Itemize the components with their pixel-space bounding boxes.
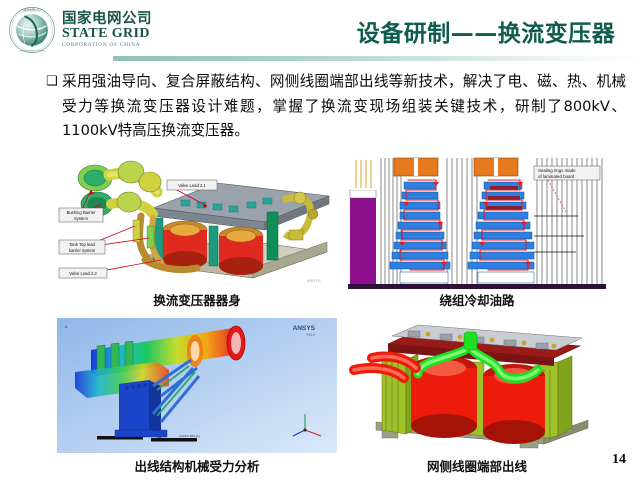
figure-converter-transformer-body: Valve Lead 2.1 Bushing Barrier System Ta… (57, 156, 337, 289)
callout-valve-lead-21: Valve Lead 2.1 (178, 183, 206, 188)
svg-text:R15.0: R15.0 (306, 333, 315, 337)
figure-winding-oil-cooling-path: Sealing rings made of laminated board (348, 156, 606, 289)
callout-valve-lead-22: Valve Lead 2.2 (69, 271, 97, 276)
figure-caption-transformer-body: 换流变压器器身 (57, 290, 337, 309)
ansys-watermark-label: ANSYS (293, 325, 316, 332)
brand-name-cn: 国家电网公司 (62, 12, 152, 27)
state-grid-globe-logo-icon: 国家电网公司 CORPORATION OF CHINA (8, 6, 56, 54)
brand-logo: 国家电网公司 CORPORATION OF CHINA 国家电网公司 STATE… (8, 6, 152, 54)
square-bullet-icon: ❑ (46, 70, 62, 94)
page-title: 设备研制——换流变压器 (340, 14, 632, 48)
body-paragraph: 采用强油导向、复合屏蔽结构、网侧线圈端部出线等新技术，解决了电、磁、热、机械受力… (62, 70, 626, 144)
figure-caption-coil-end-lead: 网侧线圈端部出线 (348, 456, 606, 475)
converter-transformer-body-image: Valve Lead 2.1 Bushing Barrier System Ta… (57, 156, 337, 289)
page-number: 14 (612, 452, 626, 468)
figure-caption-oil-cooling-path: 绕组冷却油路 (348, 290, 606, 309)
callout-tank-top-1: Tank Top lead (69, 242, 95, 247)
svg-text:ANSYS: ANSYS (307, 278, 321, 283)
svg-text:国家电网公司: 国家电网公司 (23, 7, 40, 12)
callout-bushing-barrier-2: System (74, 216, 88, 221)
title-divider (113, 56, 640, 61)
brand-name-en: STATE GRID (62, 27, 152, 41)
figure-lead-structure-stress-analysis: ANSYS R15.0 A 0.000 0.500 (m) (57, 318, 337, 453)
callout-sealing-rings-1: Sealing rings made (538, 168, 576, 173)
slide: 国家电网公司 CORPORATION OF CHINA 国家电网公司 STATE… (0, 0, 640, 480)
callout-bushing-barrier-1: Bushing Barrier (67, 210, 96, 215)
lead-structure-stress-analysis-image: ANSYS R15.0 A 0.000 0.500 (m) (57, 318, 337, 453)
body-paragraph-block: ❑ 采用强油导向、复合屏蔽结构、网侧线圈端部出线等新技术，解决了电、磁、热、机械… (46, 70, 626, 144)
callout-sealing-rings-2: of laminated board (538, 174, 575, 179)
brand-tagline: CORPORATION OF CHINA (62, 43, 152, 48)
svg-text:CORPORATION OF CHINA: CORPORATION OF CHINA (19, 50, 46, 53)
svg-text:0.000 0.500 (m): 0.000 0.500 (m) (179, 434, 200, 438)
figure-grid-side-coil-end-lead (348, 318, 606, 453)
grid-side-coil-end-lead-image (348, 318, 606, 453)
callout-tank-top-2: barrier system (69, 248, 96, 253)
figure-caption-stress-analysis: 出线结构机械受力分析 (57, 456, 337, 475)
winding-oil-cooling-path-image: Sealing rings made of laminated board (348, 156, 606, 289)
